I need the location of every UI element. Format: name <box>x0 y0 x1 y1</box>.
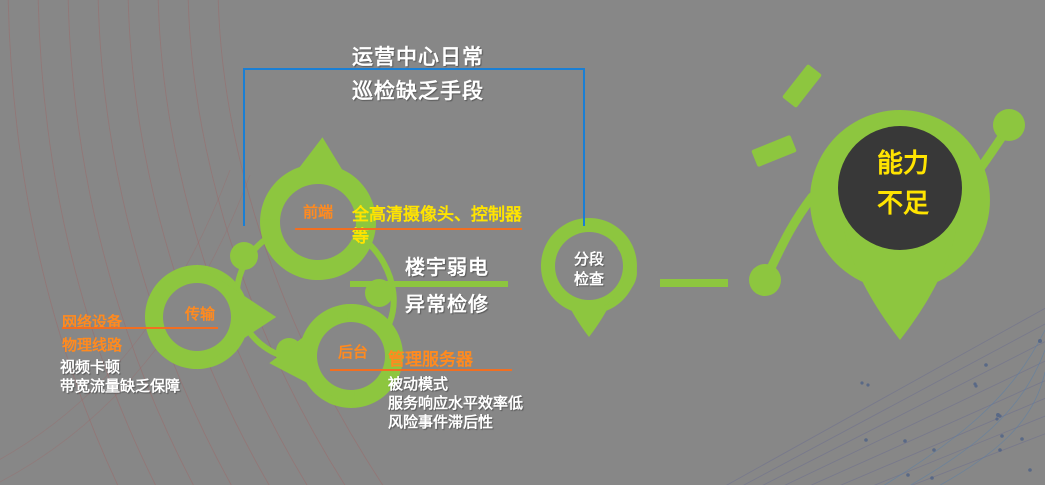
backend-underline <box>330 369 512 371</box>
middle-line-2: 异常检修 <box>405 288 489 317</box>
pin-label-segment-check: 分段 检查 <box>561 250 617 290</box>
transmission-underline <box>62 327 218 329</box>
backend-issue-3: 风险事件滞后性 <box>388 411 493 432</box>
middle-divider <box>350 281 508 287</box>
pin-label-capability: 能力 不足 <box>855 143 951 223</box>
backend-title: 管理服务器 <box>388 345 473 370</box>
pin-label-backend: 后台 <box>325 341 381 362</box>
backend-issue-1: 被动模式 <box>388 373 448 394</box>
backend-issue-2: 服务响应水平效率低 <box>388 392 523 413</box>
pin-label-transmission: 传输 <box>172 303 228 324</box>
transmission-issue-2: 带宽流量缺乏保障 <box>60 375 180 396</box>
frontend-underline <box>295 228 522 230</box>
header-line-2: 巡检缺乏手段 <box>352 75 484 105</box>
transmission-issue-1: 视频卡顿 <box>60 356 120 377</box>
arm-ball-left <box>749 264 781 296</box>
arm-ball-right <box>993 109 1025 141</box>
header-line-1: 运营中心日常 <box>352 41 484 71</box>
frontend-title: 全高清摄像头、控制器 <box>352 200 522 225</box>
transmission-title-2: 物理线路 <box>62 334 122 355</box>
sparkle-dashes <box>751 64 822 167</box>
pin-label-frontend: 前端 <box>290 201 346 222</box>
middle-line-1: 楼宇弱电 <box>405 251 489 280</box>
infographic-canvas: 运营中心日常 巡检缺乏手段 楼宇弱电 异常检修 前端 全高清摄像头、控制器 等 … <box>0 0 1045 485</box>
frontend-title-continued: 等 <box>352 222 369 247</box>
